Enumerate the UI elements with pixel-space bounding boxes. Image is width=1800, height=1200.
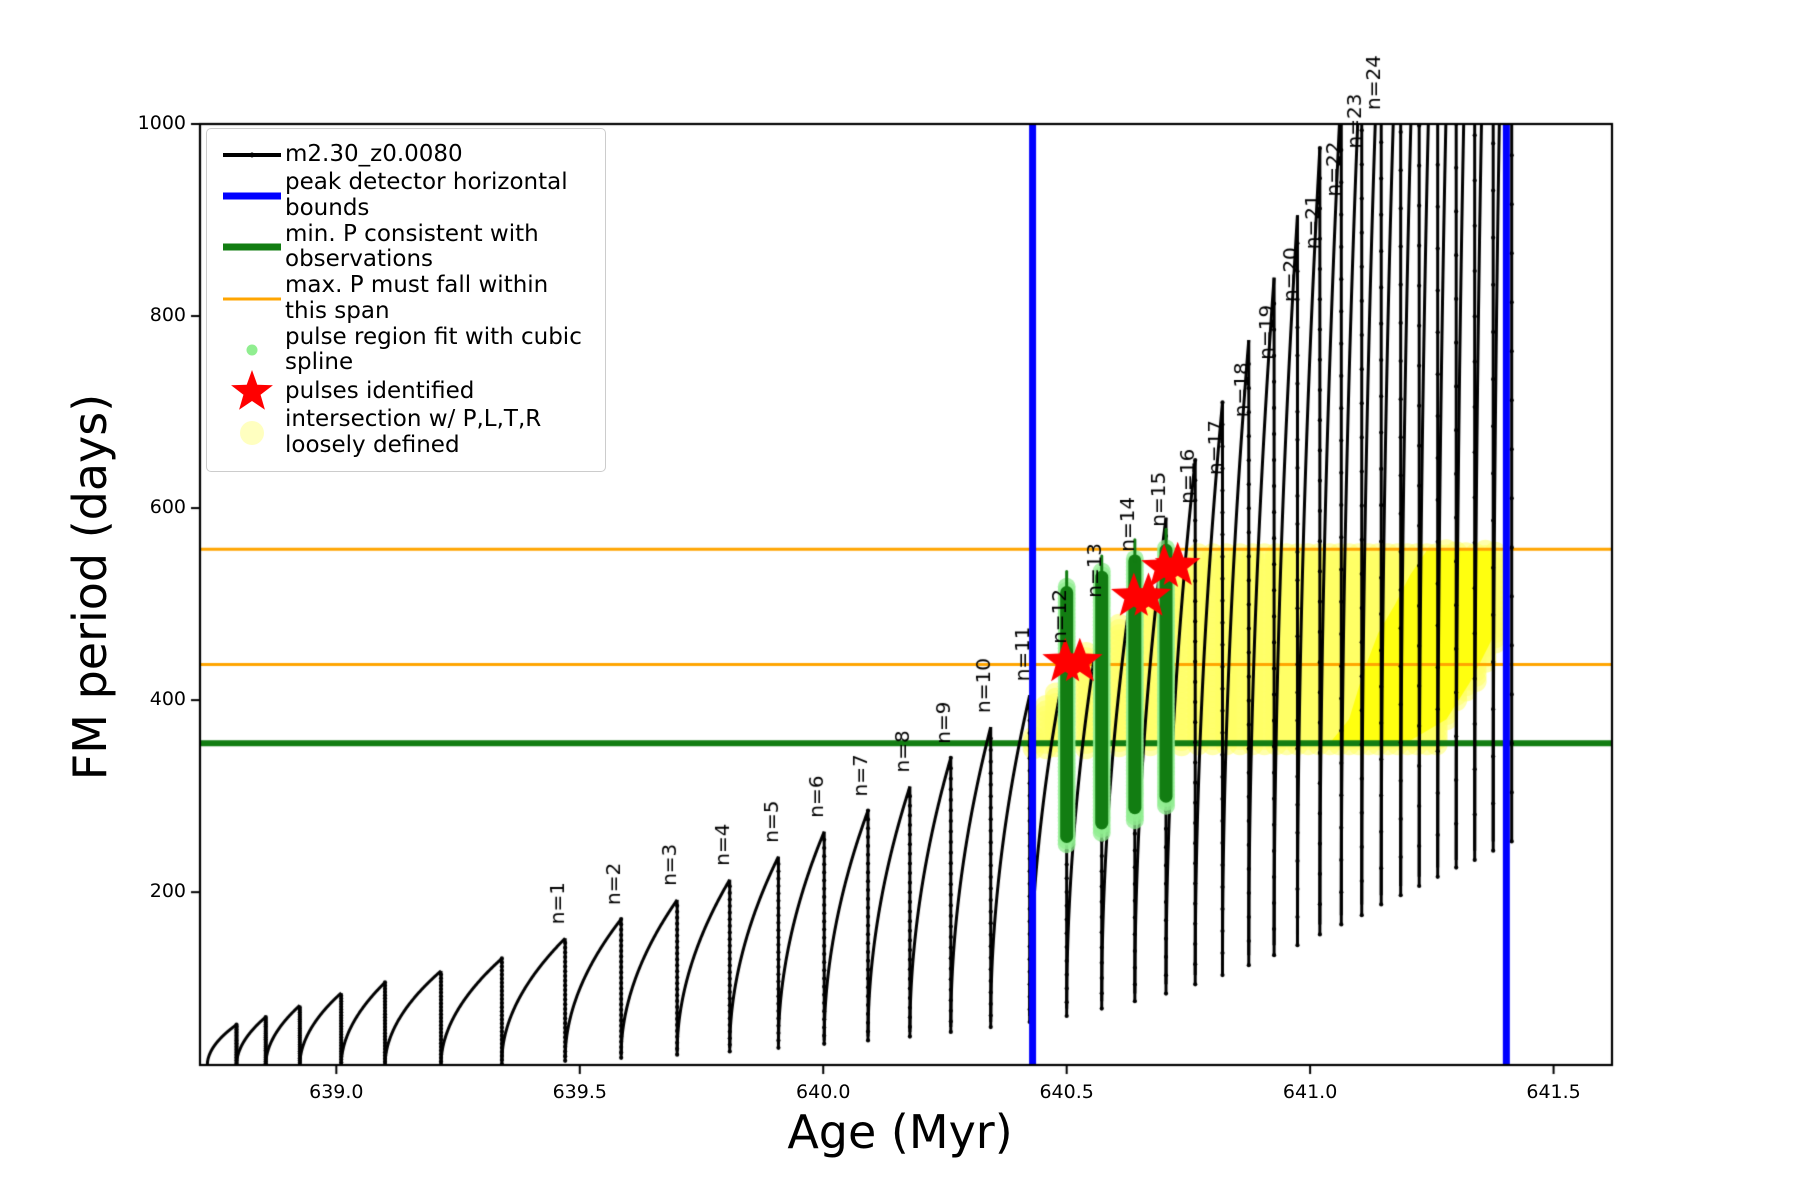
legend-entry-label: intersection w/ P,L,T,R loosely defined bbox=[285, 407, 541, 459]
y-tick-label: 800 bbox=[116, 304, 186, 326]
legend-line-swatch bbox=[223, 244, 281, 251]
legend-entry: pulses identified bbox=[219, 376, 593, 407]
legend-thick-line-icon bbox=[219, 232, 285, 262]
legend-entry: m2.30_z0.0080 bbox=[219, 139, 593, 170]
x-tick-label: 640.5 bbox=[1007, 1081, 1127, 1103]
legend-entry-label: min. P consistent with observations bbox=[285, 222, 593, 274]
legend-big-dot-icon bbox=[219, 418, 285, 448]
legend: m2.30_z0.0080peak detector horizontal bo… bbox=[206, 128, 606, 472]
legend-point-marker-icon bbox=[250, 152, 255, 157]
chart-root: FM period (days) Age (Myr) 2004006008001… bbox=[0, 0, 1800, 1200]
legend-entry: max. P must fall within this span bbox=[219, 273, 593, 325]
legend-star-icon bbox=[228, 369, 276, 415]
legend-line-swatch bbox=[223, 297, 281, 300]
legend-small-dot-icon bbox=[219, 335, 285, 365]
y-tick-label: 200 bbox=[116, 880, 186, 902]
legend-entry-label: m2.30_z0.0080 bbox=[285, 142, 463, 168]
legend-entry-label: max. P must fall within this span bbox=[285, 273, 593, 325]
legend-entry: intersection w/ P,L,T,R loosely defined bbox=[219, 407, 593, 459]
x-tick-label: 639.5 bbox=[520, 1081, 640, 1103]
legend-thick-line-icon bbox=[219, 181, 285, 211]
x-tick-label: 641.5 bbox=[1494, 1081, 1614, 1103]
legend-dot-swatch bbox=[247, 345, 258, 356]
x-axis-title: Age (Myr) bbox=[600, 1105, 1200, 1159]
y-tick-label: 400 bbox=[116, 688, 186, 710]
legend-entry: min. P consistent with observations bbox=[219, 222, 593, 274]
x-tick-label: 639.0 bbox=[276, 1081, 396, 1103]
legend-dot-swatch bbox=[240, 421, 264, 445]
legend-thin-line-icon bbox=[219, 284, 285, 314]
y-axis-title: FM period (days) bbox=[63, 287, 117, 887]
legend-entry-label: pulses identified bbox=[285, 379, 474, 405]
x-tick-label: 640.0 bbox=[763, 1081, 883, 1103]
x-tick-label: 641.0 bbox=[1250, 1081, 1370, 1103]
legend-star-icon bbox=[219, 377, 285, 407]
y-tick-label: 1000 bbox=[116, 112, 186, 134]
legend-line-with-dot-icon bbox=[219, 140, 285, 170]
y-tick-label: 600 bbox=[116, 496, 186, 518]
legend-entry-label: peak detector horizontal bounds bbox=[285, 170, 593, 222]
legend-line-swatch bbox=[223, 192, 281, 199]
legend-entry: peak detector horizontal bounds bbox=[219, 170, 593, 222]
legend-entry-label: pulse region fit with cubic spline bbox=[285, 325, 593, 377]
